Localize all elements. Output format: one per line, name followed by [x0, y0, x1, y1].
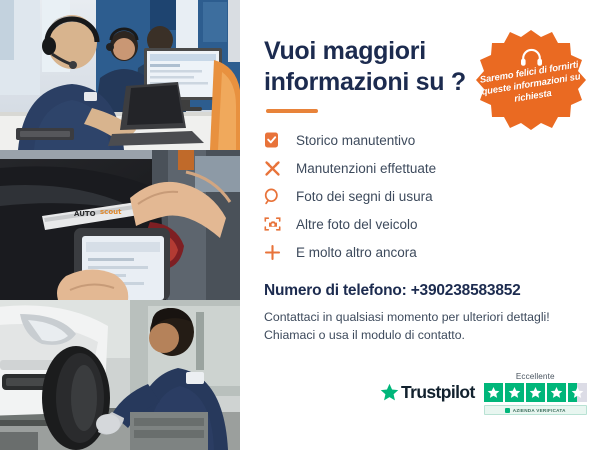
trustpilot-wordmark: Trustpilot [401, 382, 475, 403]
star-half-icon [568, 383, 587, 402]
star-rating [484, 383, 587, 402]
plus-icon [264, 242, 288, 262]
svg-text:AUTO: AUTO [74, 210, 96, 218]
feature-label: Foto dei segni di usura [296, 189, 433, 204]
trustpilot-rating[interactable]: Trustpilot Eccellente [380, 372, 587, 415]
list-item: Foto dei segni di usura [264, 183, 580, 209]
star-filled-icon [505, 383, 524, 402]
headline-line-2: informazioni su ? [264, 67, 479, 98]
star-filled-icon [484, 383, 503, 402]
wheel-service-photo [0, 300, 240, 450]
status-badge: Saremo felici di fornirti queste informa… [470, 28, 592, 146]
contact-description: Contattaci in qualsiasi momento per ulte… [264, 309, 580, 345]
advertisement-banner: AUTO scout [0, 0, 600, 450]
svg-text:scout: scout [100, 208, 122, 216]
vehicle-inspection-photo: AUTO scout [0, 150, 240, 300]
feature-label: E molto altro ancora [296, 245, 417, 260]
call-center-agents-photo [0, 0, 240, 150]
headline-line-1: Vuoi maggiori [264, 37, 426, 65]
page-title: Vuoi maggiori informazioni su ? [264, 36, 479, 97]
trustpilot-star-icon [380, 383, 399, 402]
magnifier-icon [264, 186, 288, 206]
phone-number[interactable]: Numero di telefono: +390238583852 [264, 282, 580, 300]
contact-line-1: Contattaci in qualsiasi momento per ulte… [264, 309, 580, 327]
trustpilot-logo: Trustpilot [380, 382, 475, 403]
feature-label: Storico manutentivo [296, 133, 415, 148]
star-filled-icon [526, 383, 545, 402]
list-item: Altre foto del veicolo [264, 211, 580, 237]
feature-list: Storico manutentivo Manutenzioni effettu… [264, 127, 580, 265]
content-panel: Vuoi maggiori informazioni su ? Storico … [240, 0, 600, 450]
photo-strip: AUTO scout [0, 0, 240, 450]
verified-check-icon [505, 408, 510, 413]
rating-label: Eccellente [484, 372, 587, 381]
verified-label: AZIENDA VERIFICATA [513, 408, 566, 413]
contact-line-2: Chiamaci o usa il modulo di contatto. [264, 327, 580, 345]
star-filled-icon [547, 383, 566, 402]
feature-label: Altre foto del veicolo [296, 217, 418, 232]
list-item: Manutenzioni effettuate [264, 155, 580, 181]
photo-focus-icon [264, 214, 288, 234]
feature-label: Manutenzioni effettuate [296, 161, 436, 176]
trustpilot-score-block: Eccellente [484, 372, 587, 415]
title-underline-divider [266, 109, 318, 113]
verified-business-badge: AZIENDA VERIFICATA [484, 405, 587, 415]
checklist-icon [264, 130, 288, 150]
list-item: E molto altro ancora [264, 239, 580, 265]
tools-cross-icon [264, 158, 288, 178]
